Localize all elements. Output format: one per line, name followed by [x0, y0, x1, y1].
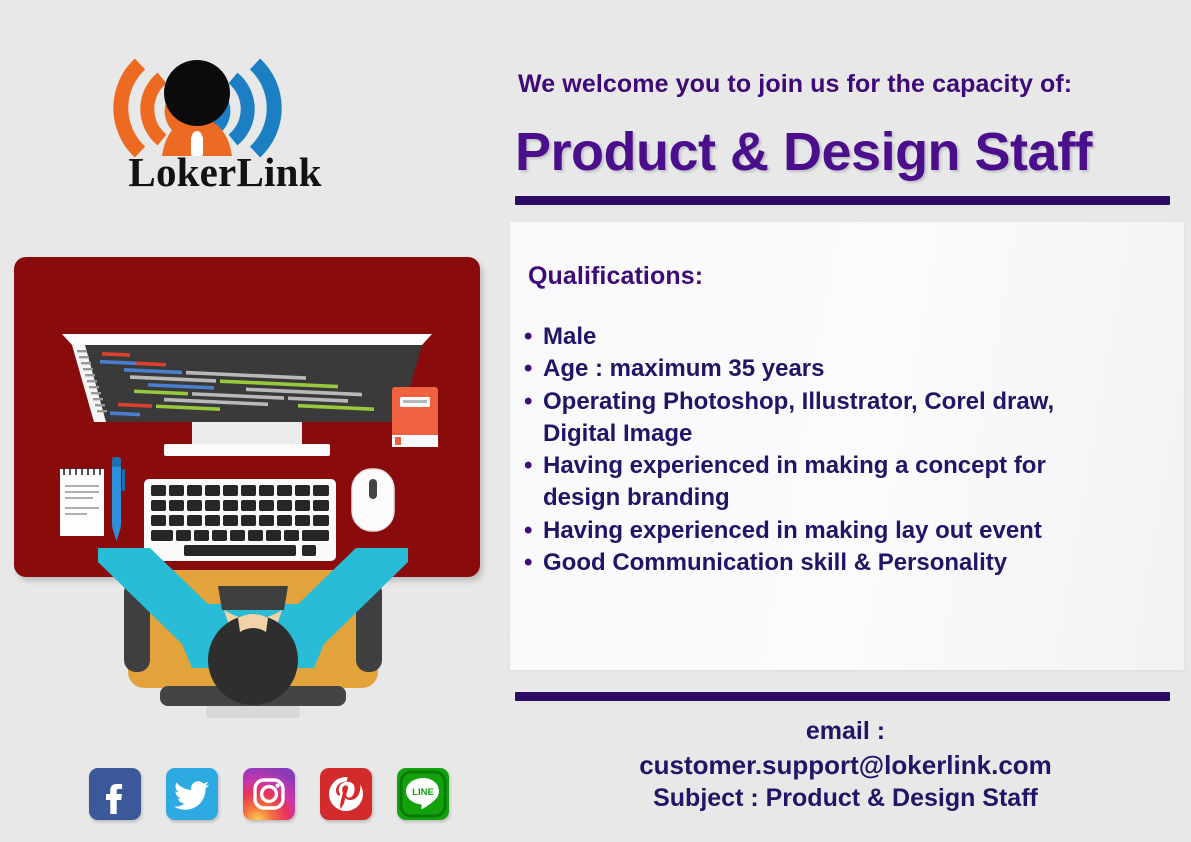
- book: [392, 387, 438, 447]
- bullet-icon: •: [524, 353, 543, 385]
- notepad: [60, 467, 104, 536]
- left-column: LokerLink: [0, 0, 500, 842]
- person-seated-illustration: [88, 548, 418, 743]
- qualification-text: Male: [543, 321, 1174, 353]
- social-links[interactable]: LINE: [89, 768, 449, 820]
- bullet-icon: •: [524, 547, 543, 579]
- bullet-icon: •: [524, 386, 543, 418]
- qualifications-list: •Male•Age : maximum 35 years•Operating P…: [524, 321, 1174, 579]
- qualification-text: Having experienced in making lay out eve…: [543, 515, 1174, 547]
- page-title: Product & Design Staff: [515, 124, 1185, 181]
- pinterest-icon[interactable]: [320, 768, 372, 820]
- right-column: We welcome you to join us for the capaci…: [500, 0, 1191, 842]
- monitor: [62, 334, 432, 456]
- divider-top: [515, 196, 1170, 205]
- job-poster: LokerLink: [0, 0, 1191, 842]
- qualifications-heading: Qualifications:: [528, 262, 703, 291]
- bullet-icon: •: [524, 321, 543, 353]
- qualification-item: •Good Communication skill & Personality: [524, 547, 1174, 579]
- qualification-item: •Age : maximum 35 years: [524, 353, 1174, 385]
- qualification-item: •Having experienced in making a concept …: [524, 450, 1174, 515]
- twitter-icon[interactable]: [166, 768, 218, 820]
- mouse: [352, 469, 394, 531]
- signal-waves-person-icon: [100, 52, 295, 162]
- qualification-item: •Male: [524, 321, 1174, 353]
- email-address[interactable]: customer.support@lokerlink.com: [500, 748, 1191, 782]
- email-label: email :: [500, 715, 1191, 748]
- bullet-icon: •: [524, 450, 543, 482]
- brand-logo: LokerLink: [80, 52, 370, 207]
- welcome-text: We welcome you to join us for the capaci…: [518, 70, 1178, 99]
- subject-line: Subject : Product & Design Staff: [500, 782, 1191, 815]
- top-down-desk-workspace-illustration: [14, 257, 480, 577]
- qualification-text: Age : maximum 35 years: [543, 353, 1174, 385]
- divider-bottom: [515, 692, 1170, 701]
- qualification-text: Having experienced in making a concept f…: [543, 450, 1174, 515]
- brand-name: LokerLink: [80, 152, 370, 193]
- qualifications-panel: Qualifications: •Male•Age : maximum 35 y…: [510, 222, 1184, 670]
- footer-contact: email : customer.support@lokerlink.com S…: [500, 715, 1191, 815]
- bullet-icon: •: [524, 515, 543, 547]
- pen: [112, 457, 125, 541]
- facebook-icon[interactable]: [89, 768, 141, 820]
- qualification-text: Good Communication skill & Personality: [543, 547, 1174, 579]
- instagram-icon[interactable]: [243, 768, 295, 820]
- qualification-item: •Having experienced in making lay out ev…: [524, 515, 1174, 547]
- qualification-item: •Operating Photoshop, Illustrator, Corel…: [524, 386, 1174, 451]
- qualification-text: Operating Photoshop, Illustrator, Corel …: [543, 386, 1174, 451]
- line-icon[interactable]: LINE: [397, 768, 449, 820]
- line-label: LINE: [412, 787, 434, 798]
